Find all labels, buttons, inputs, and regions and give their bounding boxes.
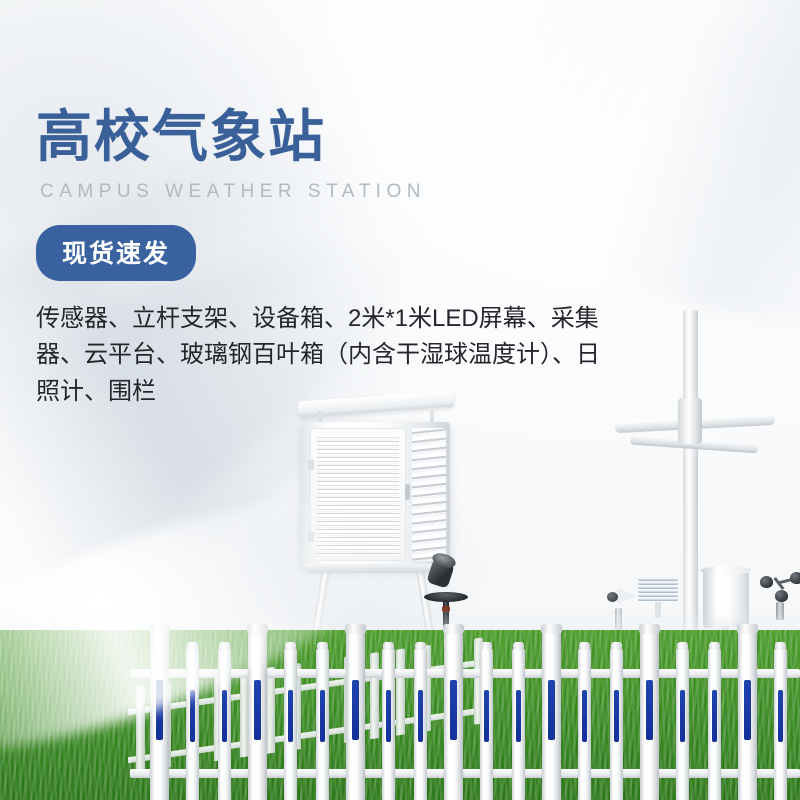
fence-post — [640, 632, 659, 800]
status-badge: 现货速发 — [36, 225, 196, 281]
fence-picket — [512, 648, 525, 800]
louver-box-body — [302, 422, 450, 567]
louver-box-door — [310, 428, 406, 561]
anemometer-icon — [760, 570, 800, 604]
fence-picket — [610, 648, 623, 800]
fence-picket — [186, 648, 199, 800]
fence-post — [346, 632, 365, 800]
fence-picket — [382, 648, 395, 800]
fence-picket — [284, 648, 297, 800]
fence-post — [444, 632, 463, 800]
fence-picket — [480, 648, 493, 800]
fence-picket — [676, 648, 689, 800]
spotlight-base-disc — [424, 592, 468, 602]
fence-post — [542, 632, 561, 800]
product-banner: 高校气象站 CAMPUS WEATHER STATION 现货速发 传感器、立杆… — [0, 0, 800, 800]
page-title: 高校气象站 — [36, 108, 636, 167]
louver-box-side-vents — [412, 428, 446, 561]
fence-post — [150, 632, 169, 800]
perimeter-fence — [0, 625, 800, 800]
radiation-shield-icon — [638, 578, 678, 604]
product-description: 传感器、立杆支架、设备箱、2米*1米LED屏幕、采集器、云平台、玻璃钢百叶箱（内… — [36, 301, 606, 410]
louver-box-handle — [405, 484, 410, 500]
mast-hub — [678, 398, 702, 444]
page-subtitle: CAMPUS WEATHER STATION — [40, 181, 636, 203]
fence-picket — [578, 648, 591, 800]
fence-post — [738, 632, 757, 800]
fence-post — [248, 632, 267, 800]
fence-picket — [218, 648, 231, 800]
fence-picket — [774, 648, 787, 800]
fence-picket — [414, 648, 427, 800]
fence-picket — [316, 648, 329, 800]
fence-picket — [708, 648, 721, 800]
headline-block: 高校气象站 CAMPUS WEATHER STATION 现货速发 传感器、立杆… — [36, 108, 636, 410]
